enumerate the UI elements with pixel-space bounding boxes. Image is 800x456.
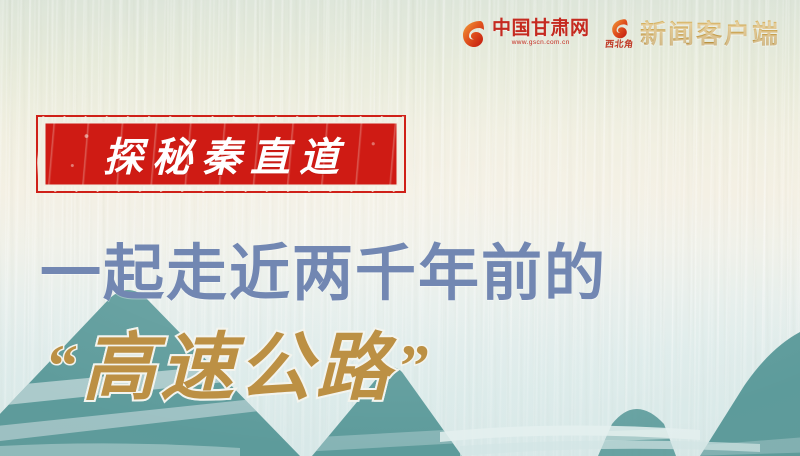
header-logo-bar: 中国甘肃网 www.gscn.com.cn 西北角 新闻客户端 <box>460 14 780 51</box>
gansu-net-wordmark: 中国甘肃网 www.gscn.com.cn <box>492 19 590 47</box>
main-headline: 一起走近两千年前的 <box>40 243 607 304</box>
flame-logo-icon <box>460 18 486 48</box>
xibeijiao-name: 西北角 <box>605 40 634 49</box>
brush-subheadline-text: 高速公路 <box>82 332 394 406</box>
gansu-net-logo[interactable]: 中国甘肃网 www.gscn.com.cn <box>460 18 590 48</box>
xibeijiao-client-logo[interactable]: 西北角 新闻客户端 <box>605 14 780 51</box>
flame-logo-small-icon <box>610 17 629 39</box>
brush-subheadline: “ 高速公路 ” <box>48 332 430 406</box>
gansu-net-name: 中国甘肃网 <box>492 19 590 38</box>
open-quote-mark: “ <box>48 336 78 396</box>
seal-title-text: 探秘秦直道 <box>36 115 406 193</box>
xibeijiao-mark: 西北角 <box>605 17 634 49</box>
close-quote-mark: ” <box>400 336 430 396</box>
news-client-label: 新闻客户端 <box>640 14 780 51</box>
gansu-net-url: www.gscn.com.cn <box>512 40 570 47</box>
poster-canvas: 中国甘肃网 www.gscn.com.cn 西北角 新闻客户端 探秘秦直道 一起… <box>0 0 800 456</box>
red-seal-title: 探秘秦直道 <box>36 115 406 193</box>
